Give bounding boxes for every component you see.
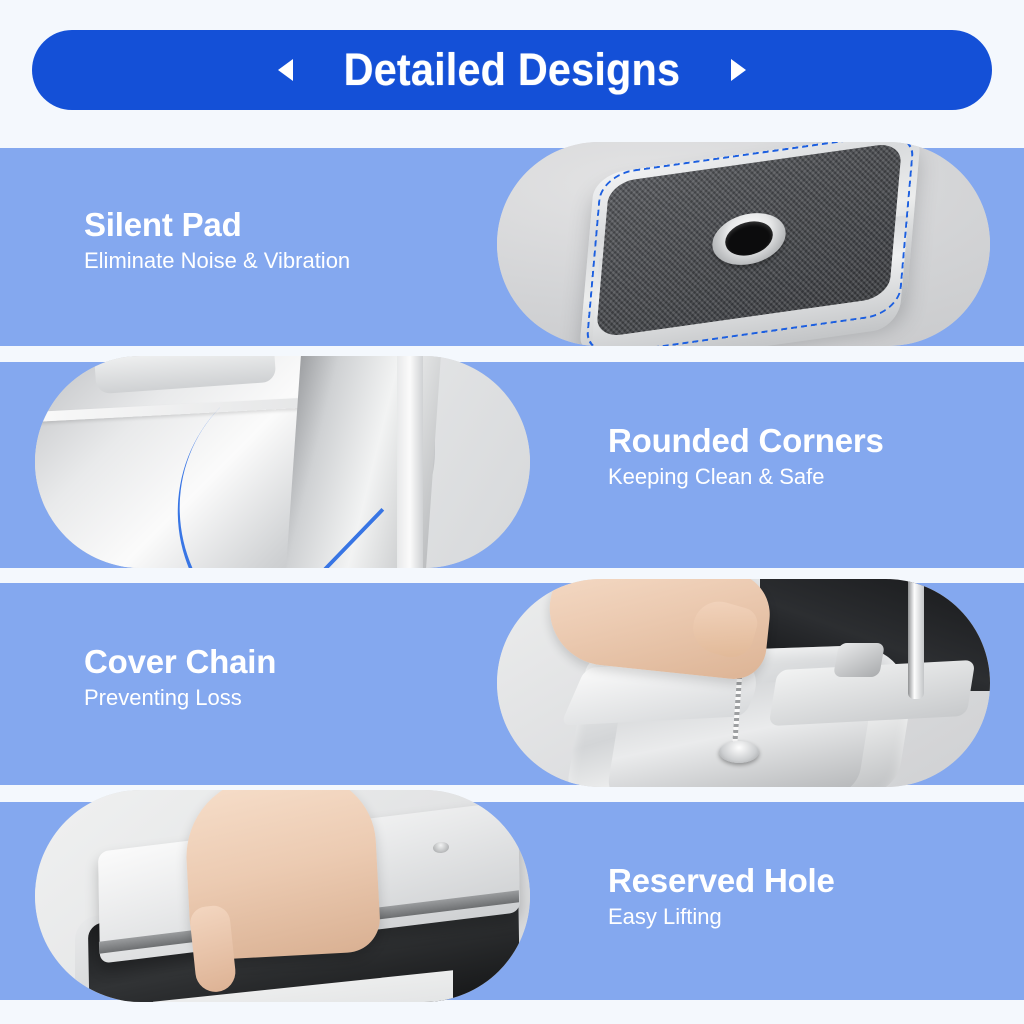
- feature-subtitle: Preventing Loss: [84, 686, 276, 710]
- feature-title: Reserved Hole: [608, 864, 835, 899]
- feature-row-reserved-hole: Reserved Hole Easy Lifting: [0, 802, 1024, 1000]
- feature-title: Cover Chain: [84, 645, 276, 680]
- faucet: [908, 579, 924, 699]
- feature-text: Cover Chain Preventing Loss: [84, 645, 276, 710]
- feature-title: Rounded Corners: [608, 424, 884, 459]
- feature-subtitle: Keeping Clean & Safe: [608, 465, 884, 489]
- feature-text: Silent Pad Eliminate Noise & Vibration: [84, 208, 350, 273]
- infographic-page: Detailed Designs Silent Pad Eliminate No…: [0, 0, 1024, 1024]
- feature-photo-reserved-hole: [35, 790, 530, 1002]
- feature-text: Reserved Hole Easy Lifting: [608, 864, 835, 929]
- feature-subtitle: Easy Lifting: [608, 905, 835, 929]
- drain-stopper: [719, 741, 759, 763]
- feature-row-cover-chain: Cover Chain Preventing Loss: [0, 583, 1024, 785]
- sink-edge: [397, 356, 423, 568]
- feature-photo-cover-chain: [497, 579, 990, 787]
- feature-title: Silent Pad: [84, 208, 350, 243]
- feature-row-rounded-corners: Rounded Corners Keeping Clean & Safe: [0, 362, 1024, 568]
- triangle-left-icon: [278, 59, 293, 81]
- feature-subtitle: Eliminate Noise & Vibration: [84, 249, 350, 273]
- feature-text: Rounded Corners Keeping Clean & Safe: [608, 424, 884, 489]
- feature-row-silent-pad: Silent Pad Eliminate Noise & Vibration: [0, 148, 1024, 346]
- page-title: Detailed Designs: [344, 44, 681, 96]
- triangle-right-icon: [731, 59, 746, 81]
- feature-photo-silent-pad: [497, 142, 990, 346]
- feature-photo-rounded-corners: [35, 356, 530, 568]
- header-banner: Detailed Designs: [32, 30, 992, 110]
- hinge-bracket: [833, 643, 885, 677]
